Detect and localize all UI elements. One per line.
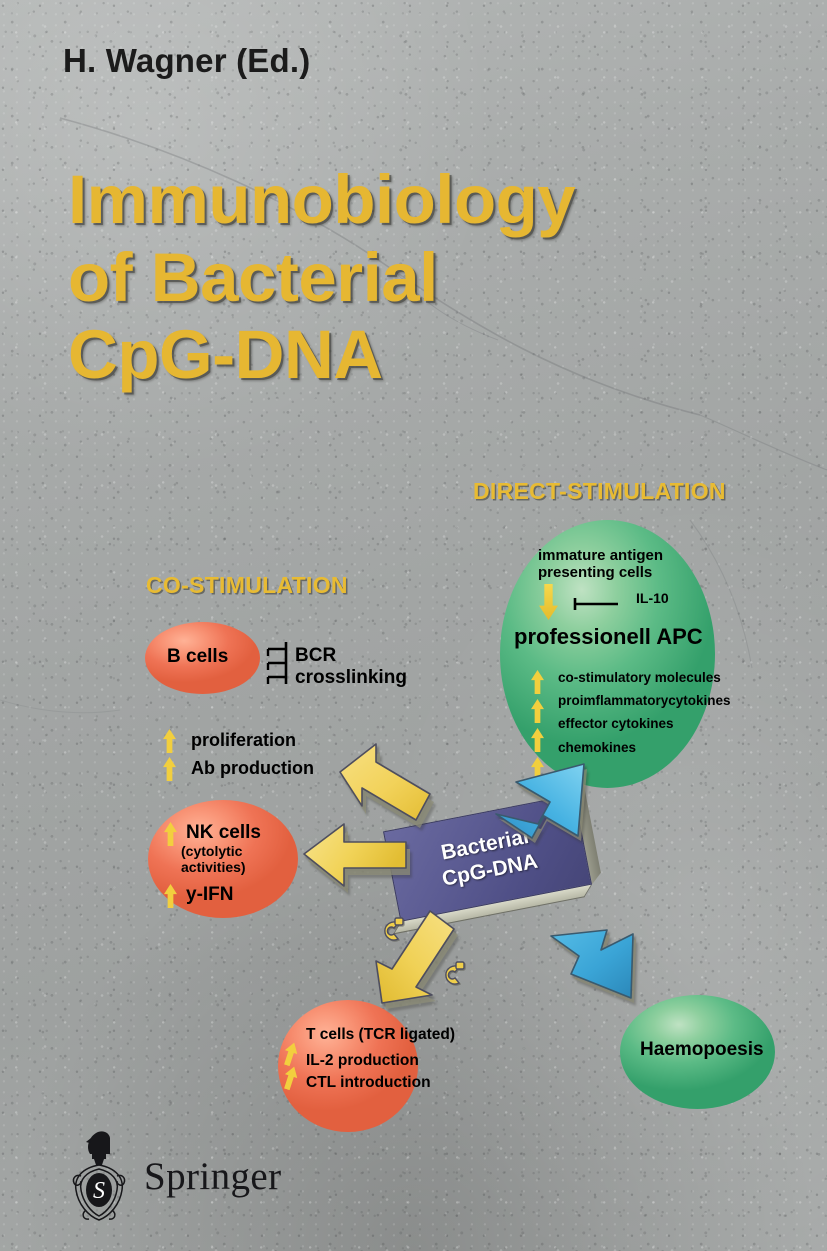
publisher-logo-group: S Springer (68, 1128, 282, 1224)
bcr-crosslinking-label: BCR crosslinking (295, 645, 407, 690)
apc-immature-line-1: immature antigen (538, 547, 663, 564)
nk-output-label: y-IFN (186, 884, 234, 906)
apc-up-arrow-icon-2 (531, 699, 544, 723)
nk-up-arrow-icon-2 (164, 884, 177, 908)
bcr-label-line-2: crosslinking (295, 667, 407, 688)
apc-output-list: co-stimulatory molecules proimflammatory… (558, 666, 731, 759)
book-title: Immunobiology of Bacterial CpG-DNA (68, 166, 768, 399)
nk-cells-ellipse: NK cells (cytolytic activities) y-IFN (148, 800, 298, 918)
ab-production-up-arrow-icon (163, 757, 176, 781)
t-cell-output-line-1: IL-2 production (306, 1052, 419, 1069)
b-cells-label: B cells (167, 646, 228, 668)
t-cells-label: T cells (TCR ligated) (306, 1026, 455, 1044)
springer-knight-crest-icon: S (68, 1128, 130, 1224)
editor-name: H. Wagner (Ed.) (63, 42, 310, 80)
apc-maturation-down-arrow-icon (539, 584, 558, 620)
il10-inhibition-icon (572, 596, 632, 612)
t-cell-output-line-2: CTL introduction (306, 1074, 431, 1091)
heading-co-stimulation: CO-STIMULATION (146, 572, 348, 599)
haemopoesis-label: Haemopoesis (640, 1039, 764, 1061)
apc-immature-line-2: presenting cells (538, 564, 652, 581)
apc-output-0: co-stimulatory molecules (558, 666, 731, 689)
arrow-to-nk-cells-icon (300, 818, 412, 896)
bcr-label-line-1: BCR (295, 645, 336, 666)
title-line-2: of Bacterial (68, 244, 768, 312)
apc-up-arrow-icon-1 (531, 670, 544, 694)
apc-title-label: professionell APC (514, 624, 703, 650)
nk-cells-sublabel: (cytolytic activities) (181, 844, 246, 876)
apc-output-2: effector cytokines (558, 712, 731, 735)
bcr-receptor-icon (262, 640, 292, 686)
b-cell-effect-1: Ab production (191, 758, 314, 779)
t-cells-ellipse: T cells (TCR ligated) IL-2 production CT… (278, 1000, 418, 1132)
cpg-fragment-glyph-icon-1 (376, 916, 406, 946)
arrow-to-haemopoesis-icon (545, 920, 645, 1008)
apc-immature-label: immature antigen presenting cells (538, 548, 663, 582)
b-cell-effect-0: proliferation (191, 730, 296, 751)
t-cell-up-arrow-icon-1 (281, 1041, 301, 1068)
apc-cell-ellipse: immature antigen presenting cells IL-10 … (500, 520, 715, 788)
title-line-1: Immunobiology (68, 166, 768, 234)
nk-cells-label: NK cells (186, 822, 261, 844)
il10-label: IL-10 (636, 590, 669, 606)
svg-text:S: S (93, 1178, 105, 1204)
publisher-name: Springer (144, 1154, 282, 1199)
haemopoesis-ellipse: Haemopoesis (620, 995, 775, 1109)
apc-output-1: proimflammatorycytokines (558, 689, 731, 712)
book-cover: H. Wagner (Ed.) Immunobiology of Bacteri… (0, 0, 827, 1251)
proliferation-up-arrow-icon (163, 729, 176, 753)
title-line-3: CpG-DNA (68, 321, 768, 389)
cpg-fragment-glyph-icon-2 (437, 960, 467, 990)
apc-up-arrow-icon-3 (531, 728, 544, 752)
nk-up-arrow-icon-1 (164, 822, 177, 846)
b-cells-ellipse: B cells (145, 622, 260, 694)
t-cell-up-arrow-icon-2 (281, 1065, 301, 1092)
nk-sub-line-2: activities) (181, 859, 246, 875)
heading-direct-stimulation: DIRECT-STIMULATION (473, 478, 726, 505)
t-cells-output-label: IL-2 production CTL introduction (306, 1050, 431, 1094)
arrow-to-apc-icon (492, 752, 596, 844)
nk-sub-line-1: (cytolytic (181, 843, 242, 859)
